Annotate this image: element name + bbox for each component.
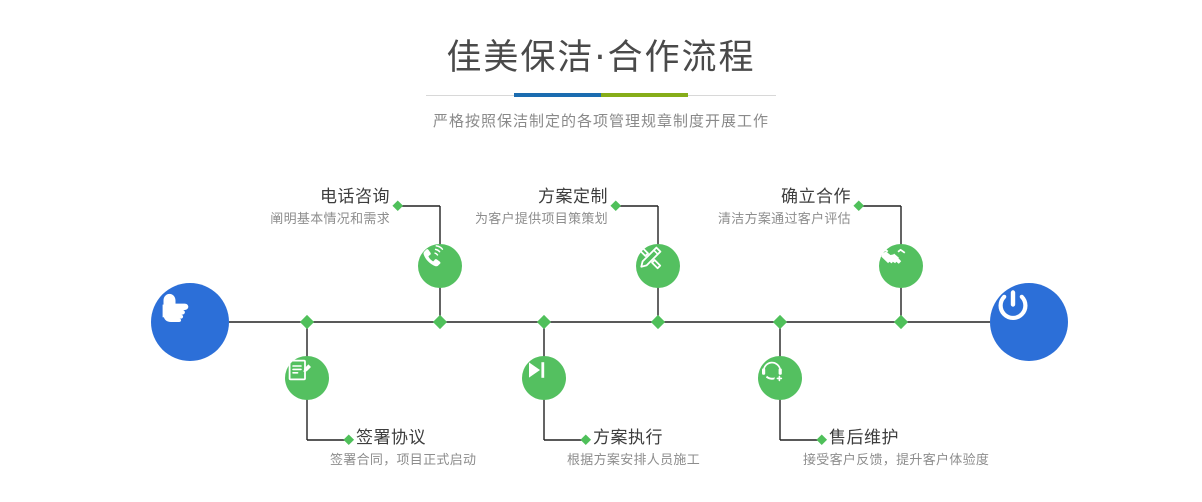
node-desc-5: 清洁方案通过客户评估 xyxy=(631,209,851,231)
node-icon-5[interactable] xyxy=(879,244,923,288)
node-title-6: 售后维护 xyxy=(829,426,1109,450)
flow-end-node[interactable] xyxy=(990,283,1068,361)
phone-call-icon xyxy=(418,244,446,272)
node-icon-6[interactable] xyxy=(758,356,802,400)
axis-diamond-node-6 xyxy=(773,315,787,329)
axis-diamond-node-2 xyxy=(300,315,314,329)
node-desc-6: 接受客户反馈，提升客户体验度 xyxy=(803,450,1109,472)
handshake-icon xyxy=(879,244,907,272)
node-title-2: 签署协议 xyxy=(356,426,616,450)
node-title-4: 方案执行 xyxy=(593,426,853,450)
pointing-hand-icon xyxy=(151,283,195,327)
node-title-5: 确立合作 xyxy=(631,185,851,209)
label-diamond-node-3 xyxy=(610,200,621,211)
node-desc-3: 为客户提供项目策策划 xyxy=(388,209,608,231)
node-icon-2[interactable] xyxy=(285,356,329,400)
process-flow-diagram: 电话咨询 阐明基本情况和需求 方案定制 为客户提供项目策策划 确立合作 清洁方案… xyxy=(0,0,1202,502)
node-icon-3[interactable] xyxy=(636,244,680,288)
node-desc-1: 阐明基本情况和需求 xyxy=(170,209,390,231)
node-icon-4[interactable] xyxy=(522,356,566,400)
node-icon-1[interactable] xyxy=(418,244,462,288)
node-label-5: 确立合作 清洁方案通过客户评估 xyxy=(631,185,851,231)
document-edit-icon xyxy=(285,356,313,384)
node-title-1: 电话咨询 xyxy=(170,185,390,209)
axis-diamond-node-1 xyxy=(433,315,447,329)
label-diamond-node-5 xyxy=(853,200,864,211)
node-label-3: 方案定制 为客户提供项目策策划 xyxy=(388,185,608,231)
label-diamond-node-2 xyxy=(343,434,354,445)
play-execute-icon xyxy=(522,356,550,384)
axis-diamond-node-4 xyxy=(537,315,551,329)
flow-start-node[interactable] xyxy=(151,283,229,361)
axis-diamond-node-3 xyxy=(651,315,665,329)
axis-diamond-node-5 xyxy=(894,315,908,329)
customer-service-icon xyxy=(758,356,786,384)
node-label-1: 电话咨询 阐明基本情况和需求 xyxy=(170,185,390,231)
node-title-3: 方案定制 xyxy=(388,185,608,209)
power-icon xyxy=(990,283,1036,329)
node-label-6: 售后维护 接受客户反馈，提升客户体验度 xyxy=(829,426,1109,472)
pencil-ruler-icon xyxy=(636,244,664,272)
